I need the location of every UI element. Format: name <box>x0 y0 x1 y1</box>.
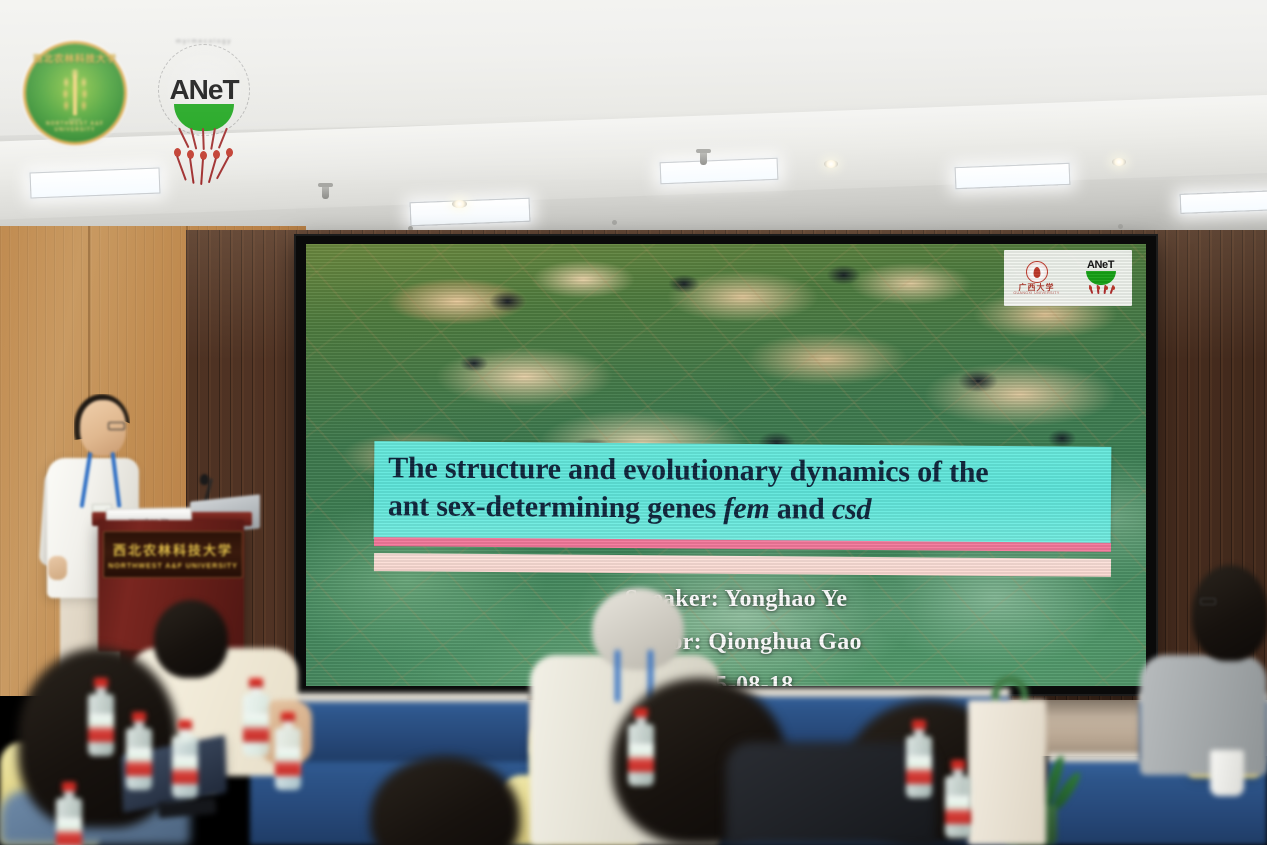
presentation-screen: 广西大学 GUANGXI UNIVERSITY ANeT <box>306 244 1146 686</box>
anet-ring-text: myrmecology <box>152 38 256 45</box>
ceiling-fixture-dot <box>612 220 617 225</box>
presenter-glasses-icon <box>108 422 125 430</box>
audience-member-head <box>154 600 228 678</box>
audience-member-glasses-icon <box>1200 598 1216 605</box>
guangxi-university-logo-icon: 广西大学 GUANGXI UNIVERSITY <box>1010 261 1064 296</box>
ceiling-fixture-dot <box>1118 224 1123 229</box>
bottle-label <box>243 714 269 742</box>
podium-nameplate: 西北农林科技大学 NORTHWEST A&F UNIVERSITY <box>103 531 243 578</box>
sprinkler-head <box>322 186 329 199</box>
podium-cn-name: 西北农林科技大学 <box>104 540 242 559</box>
conference-hall-photo: 西北农林科技大学 1934 NORTHWEST A&F UNIVERSITY m… <box>0 0 1267 845</box>
slide-speaker-label: Speaker: Yonghao Ye <box>306 586 1146 613</box>
anet-small-dome-icon <box>1086 271 1116 285</box>
audience-member-head <box>1192 565 1267 661</box>
ceiling-downlight <box>1112 158 1126 166</box>
anet-logo-icon: myrmecology ANeT <box>152 36 252 171</box>
audience-member-torso <box>726 742 936 845</box>
ceiling-panel-light <box>1180 190 1267 214</box>
guangxi-en-name: GUANGXI UNIVERSITY <box>1010 292 1064 296</box>
overlay-logos: 西北农林科技大学 1934 NORTHWEST A&F UNIVERSITY m… <box>14 22 244 162</box>
gene-name-fem: fem <box>723 491 769 524</box>
slide-title-line-2-pre: ant sex-determining genes <box>388 489 724 525</box>
nwafu-seal-icon: 西北农林科技大学 1934 NORTHWEST A&F UNIVERSITY <box>26 44 124 142</box>
guangxi-emblem-icon <box>1026 261 1048 283</box>
audience-member-lanyard <box>615 650 620 702</box>
slide-logo-bar: 广西大学 GUANGXI UNIVERSITY ANeT <box>1004 250 1132 306</box>
bottle-label <box>628 744 654 772</box>
bottle-label <box>56 818 82 845</box>
microphone-icon <box>200 474 209 485</box>
slide-title-band: The structure and evolutionary dynamics … <box>374 441 1112 545</box>
slide-advisor-label: Advisor: Qionghua Gao <box>306 629 1146 656</box>
ceiling-panel-light <box>410 198 531 227</box>
ceiling-downlight <box>452 200 467 208</box>
wheat-icon <box>58 69 92 121</box>
nwafu-seal-en-name: NORTHWEST A&F UNIVERSITY <box>26 121 124 133</box>
tote-bag <box>968 700 1046 845</box>
ceiling-downlight <box>824 160 838 168</box>
presenter-lanyard <box>84 452 122 510</box>
sprinkler-head <box>700 152 707 165</box>
anet-ant-legs-icon <box>170 128 238 186</box>
ceiling-panel-light <box>660 158 779 185</box>
anet-logo-small-icon: ANeT <box>1075 260 1127 296</box>
anet-small-wordmark: ANeT <box>1075 260 1127 271</box>
audience-member-torso <box>1140 655 1267 775</box>
bottle-label <box>906 756 932 784</box>
bottle-label <box>945 796 971 824</box>
ceiling-panel-light <box>30 168 161 199</box>
anet-wordmark: ANeT <box>152 74 256 106</box>
led-screen-frame: 广西大学 GUANGXI UNIVERSITY ANeT <box>296 236 1156 694</box>
presenter-hand <box>48 556 67 580</box>
nwafu-seal-cn-name: 西北农林科技大学 <box>26 51 124 65</box>
audience-member-head <box>592 588 684 670</box>
slide-title-line-1: The structure and evolutionary dynamics … <box>388 451 988 489</box>
slide-title: The structure and evolutionary dynamics … <box>388 449 1104 530</box>
slide-title-line-2-mid: and <box>769 492 832 525</box>
bottle-label <box>275 748 301 776</box>
paper-cup <box>1210 750 1244 796</box>
anet-small-legs-icon <box>1086 285 1116 296</box>
bottle-label <box>126 748 152 776</box>
podium-en-name: NORTHWEST A&F UNIVERSITY <box>104 561 242 570</box>
ceiling-panel-light <box>955 163 1071 189</box>
gene-name-csd: csd <box>832 492 872 525</box>
bottle-label <box>172 756 198 784</box>
bottle-label <box>88 714 114 742</box>
